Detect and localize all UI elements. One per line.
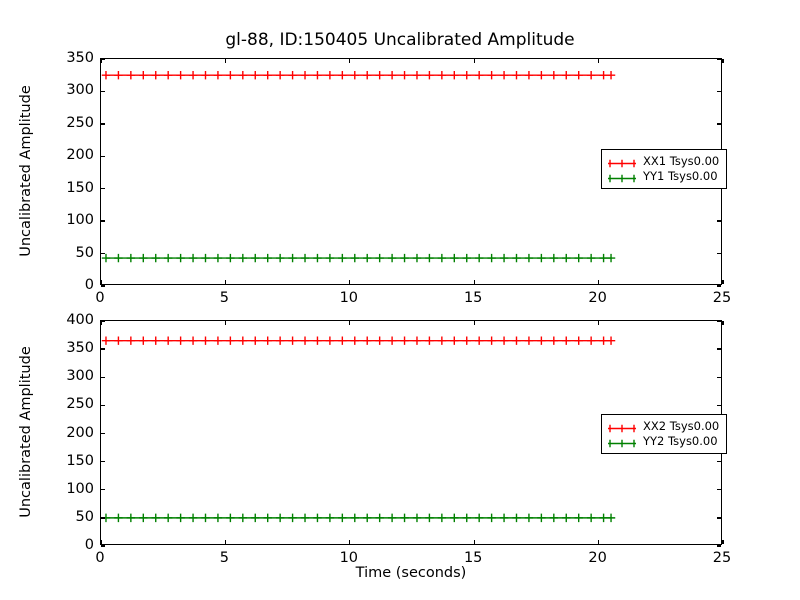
x-tick-label: 5 — [220, 550, 229, 566]
y-tick — [101, 405, 105, 406]
legend-entry: YY1 Tsys0.00 — [607, 169, 719, 184]
x-tick — [349, 59, 350, 63]
x-tick-label: 20 — [588, 550, 606, 566]
y-tick — [101, 489, 105, 490]
x-tick — [474, 280, 475, 284]
legend-label: XX2 Tsys0.00 — [643, 420, 719, 433]
y-tick — [717, 405, 721, 406]
y-tick-label: 100 — [38, 481, 94, 497]
y-tick — [101, 188, 105, 189]
trace-markers — [102, 336, 615, 344]
y-tick — [717, 220, 721, 221]
y-tick — [717, 58, 721, 59]
x-tick — [598, 540, 599, 544]
y-tick-label: 0 — [38, 537, 94, 553]
y-tick-label: 350 — [38, 50, 94, 66]
y-tick-label: 150 — [38, 180, 94, 196]
x-tick — [722, 280, 723, 284]
x-tick — [100, 59, 101, 63]
series-yy1 — [102, 254, 615, 262]
y-tick — [101, 461, 105, 462]
x-tick — [474, 59, 475, 63]
x-tick — [598, 280, 599, 284]
x-tick-label: 15 — [464, 550, 482, 566]
x-tick — [349, 321, 350, 325]
y-tick — [101, 123, 105, 124]
y-tick — [717, 517, 721, 518]
y-tick-label: 100 — [38, 212, 94, 228]
x-tick-label: 5 — [220, 290, 229, 306]
legend-entry: XX2 Tsys0.00 — [607, 419, 719, 434]
x-tick — [722, 321, 723, 325]
x-tick — [474, 321, 475, 325]
figure-title: gl-88, ID:150405 Uncalibrated Amplitude — [0, 30, 800, 50]
legend-line-sample-icon — [607, 170, 637, 183]
legend-label: YY1 Tsys0.00 — [643, 170, 718, 183]
y-tick — [101, 348, 105, 349]
x-tick-label: 0 — [95, 290, 104, 306]
trace-markers — [102, 514, 615, 522]
y-axis-label-bottom: Uncalibrated Amplitude — [18, 332, 34, 532]
y-tick — [717, 348, 721, 349]
x-tick — [598, 59, 599, 63]
x-tick-label: 10 — [340, 550, 358, 566]
x-tick — [100, 280, 101, 284]
x-tick-label: 10 — [340, 290, 358, 306]
x-tick — [722, 540, 723, 544]
y-tick — [717, 377, 721, 378]
x-tick — [100, 321, 101, 325]
legend-line-sample-icon — [607, 435, 637, 448]
x-tick — [225, 321, 226, 325]
legend-entry: YY2 Tsys0.00 — [607, 434, 719, 449]
series-xx1 — [102, 71, 615, 79]
y-tick — [717, 489, 721, 490]
legend-top-panel: XX1 Tsys0.00YY1 Tsys0.00 — [601, 149, 727, 189]
y-tick-label: 150 — [38, 453, 94, 469]
y-tick — [717, 320, 721, 321]
y-tick — [101, 253, 105, 254]
y-tick-label: 0 — [38, 277, 94, 293]
y-tick — [717, 91, 721, 92]
series-yy2 — [102, 514, 615, 522]
y-tick-label: 400 — [38, 312, 94, 328]
x-tick — [474, 540, 475, 544]
x-tick — [225, 540, 226, 544]
x-tick — [225, 280, 226, 284]
y-tick-label: 200 — [38, 425, 94, 441]
legend-entry: XX1 Tsys0.00 — [607, 154, 719, 169]
y-tick-label: 250 — [38, 396, 94, 412]
x-tick — [225, 59, 226, 63]
legend-bottom-panel: XX2 Tsys0.00YY2 Tsys0.00 — [601, 414, 727, 454]
x-tick-label: 20 — [588, 290, 606, 306]
y-tick — [101, 285, 105, 286]
y-tick-label: 200 — [38, 147, 94, 163]
legend-line-sample-icon — [607, 155, 637, 168]
y-tick-label: 300 — [38, 82, 94, 98]
y-tick-label: 50 — [38, 509, 94, 525]
y-tick-label: 300 — [38, 368, 94, 384]
legend-line-sample-icon — [607, 420, 637, 433]
x-tick-label: 0 — [95, 550, 104, 566]
trace-markers — [102, 71, 615, 79]
x-tick — [100, 540, 101, 544]
x-tick — [349, 280, 350, 284]
y-tick — [101, 220, 105, 221]
y-tick — [717, 253, 721, 254]
y-tick — [717, 285, 721, 286]
x-tick-label: 15 — [464, 290, 482, 306]
y-tick-label: 250 — [38, 115, 94, 131]
y-tick-label: 350 — [38, 340, 94, 356]
x-tick — [598, 321, 599, 325]
y-tick — [717, 123, 721, 124]
x-axis-label: Time (seconds) — [100, 565, 722, 581]
y-tick — [101, 545, 105, 546]
y-axis-label-top: Uncalibrated Amplitude — [18, 71, 34, 271]
x-tick — [722, 59, 723, 63]
y-tick-label: 50 — [38, 245, 94, 261]
y-tick — [101, 433, 105, 434]
y-tick — [101, 377, 105, 378]
y-tick — [101, 91, 105, 92]
y-tick — [717, 461, 721, 462]
y-tick — [101, 156, 105, 157]
series-xx2 — [102, 336, 615, 344]
legend-label: XX1 Tsys0.00 — [643, 155, 719, 168]
x-tick — [349, 540, 350, 544]
y-tick — [101, 517, 105, 518]
legend-label: YY2 Tsys0.00 — [643, 435, 718, 448]
y-tick — [717, 545, 721, 546]
x-tick-label: 25 — [713, 550, 731, 566]
trace-markers — [102, 254, 615, 262]
figure-canvas: gl-88, ID:150405 Uncalibrated Amplitude … — [0, 0, 800, 600]
x-tick-label: 25 — [713, 290, 731, 306]
